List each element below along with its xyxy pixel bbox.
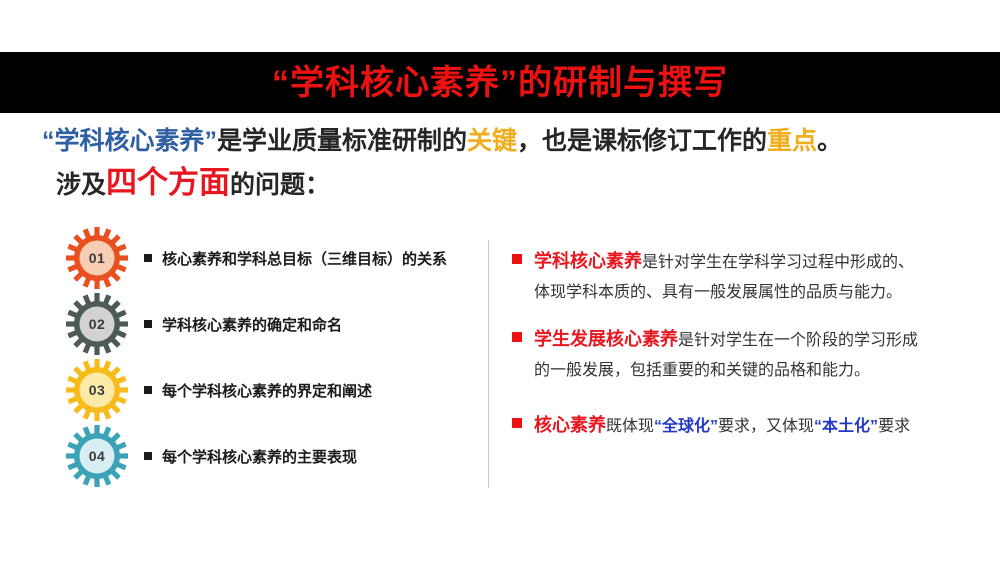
intro-keyword-key: 关键 [467,127,517,155]
intro-text-e: 的问题： [230,171,330,199]
step-label-01: 核心素养和学科总目标（三维目标）的关系 [162,248,447,269]
step-label-wrap-04: 每个学科核心素养的主要表现 [144,446,357,467]
intro-paragraph: “学科核心素养”是学业质量标准研制的关键，也是课标修订工作的重点。 涉及四个方面… [42,124,962,203]
step-number-03: 03 [60,358,134,422]
page-title: “学科核心素养”的研制与撰写 [272,66,728,100]
definition-quote-localization: “本土化” [814,418,878,435]
definition-item-2: 学生发展核心素养是针对学生在一个阶段的学习形成的一般发展，包括重要的和关键的品格… [512,324,982,386]
definition-term-1: 学科核心素养 [534,251,642,271]
step-label-wrap-02: 学科核心素养的确定和命名 [144,314,342,335]
square-bullet-icon [144,320,152,328]
step-label-02: 学科核心素养的确定和命名 [162,314,342,335]
red-square-bullet-icon [512,254,522,264]
gear-icon-02: 02 [60,292,134,356]
square-bullet-icon [144,386,152,394]
intro-text-d: 涉及 [56,171,106,199]
step-row-04[interactable]: 04 每个学科核心素养的主要表现 [0,424,470,488]
step-row-03[interactable]: 03 每个学科核心素养的界定和阐述 [0,358,470,422]
definition-text-3a: 既体现 [606,418,654,435]
step-number-01: 01 [60,226,134,290]
square-bullet-icon [144,452,152,460]
intro-text-c: 。 [817,127,842,155]
definition-text-3b: 要求，又体现 [718,418,814,435]
step-label-04: 每个学科核心素养的主要表现 [162,446,357,467]
definition-body-3: 核心素养既体现“全球化”要求，又体现“本土化”要求 [534,410,910,442]
definition-text-3c: 要求 [878,418,910,435]
gear-icon-03: 03 [60,358,134,422]
intro-keyword-four-aspects: 四个方面 [106,165,230,200]
red-square-bullet-icon [512,418,522,428]
definition-term-3: 核心素养 [534,415,606,435]
step-label-wrap-01: 核心素养和学科总目标（三维目标）的关系 [144,248,447,269]
intro-text-a: 是学业质量标准研制的 [217,127,467,155]
definition-text-1b: 体现学科本质的、具有一般发展属性的品质与能力。 [534,284,902,301]
definition-body-2: 学生发展核心素养是针对学生在一个阶段的学习形成的一般发展，包括重要的和关键的品格… [534,324,918,386]
definition-item-1: 学科核心素养是针对学生在学科学习过程中形成的、体现学科本质的、具有一般发展属性的… [512,246,982,308]
intro-keyword-focus: 重点 [767,127,817,155]
step-number-02: 02 [60,292,134,356]
square-bullet-icon [144,254,152,262]
gear-icon-04: 04 [60,424,134,488]
step-label-03: 每个学科核心素养的界定和阐述 [162,380,372,401]
vertical-divider [488,240,489,488]
definition-text-2b: 的一般发展，包括重要的和关键的品格和能力。 [534,362,870,379]
steps-list: 01 核心素养和学科总目标（三维目标）的关系 [0,226,470,486]
definition-term-2: 学生发展核心素养 [534,329,678,349]
red-square-bullet-icon [512,332,522,342]
step-row-01[interactable]: 01 核心素养和学科总目标（三维目标）的关系 [0,226,470,290]
step-label-wrap-03: 每个学科核心素养的界定和阐述 [144,380,372,401]
intro-line-2: 涉及四个方面的问题： [42,165,962,203]
slide-root: “学科核心素养”的研制与撰写 “学科核心素养”是学业质量标准研制的关键，也是课标… [0,0,1000,562]
definition-body-1: 学科核心素养是针对学生在学科学习过程中形成的、体现学科本质的、具有一般发展属性的… [534,246,914,308]
definition-text-2a: 是针对学生在一个阶段的学习形成 [678,332,918,349]
definition-text-1a: 是针对学生在学科学习过程中形成的、 [642,254,914,271]
intro-text-b: ，也是课标修订工作的 [517,127,767,155]
step-row-02[interactable]: 02 学科核心素养的确定和命名 [0,292,470,356]
gear-icon-01: 01 [60,226,134,290]
intro-keyword-core-literacy: “学科核心素养” [42,127,217,155]
definitions-list: 学科核心素养是针对学生在学科学习过程中形成的、体现学科本质的、具有一般发展属性的… [512,246,982,442]
intro-line-1: “学科核心素养”是学业质量标准研制的关键，也是课标修订工作的重点。 [42,124,962,158]
definition-item-3: 核心素养既体现“全球化”要求，又体现“本土化”要求 [512,410,982,442]
step-number-04: 04 [60,424,134,488]
definition-quote-globalization: “全球化” [654,418,718,435]
title-banner: “学科核心素养”的研制与撰写 [0,52,1000,113]
